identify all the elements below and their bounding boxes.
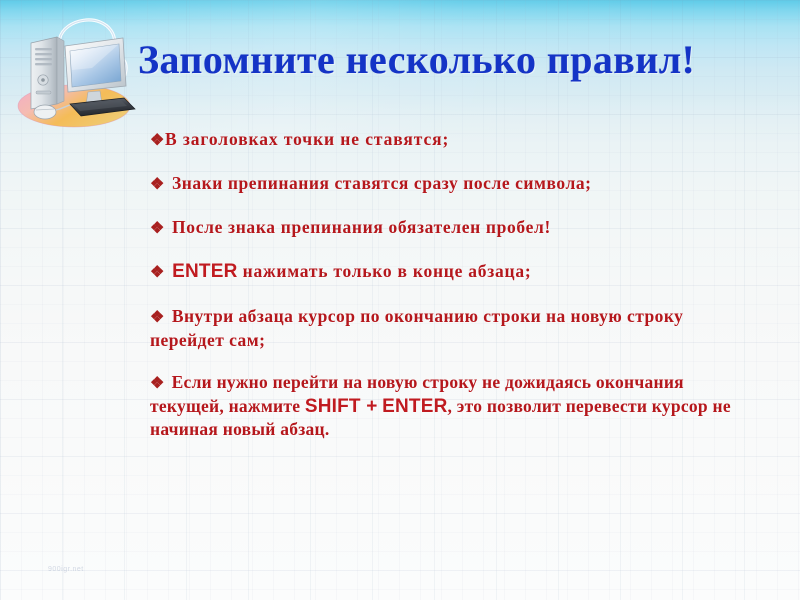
rule-text: Знаки препинания ставятся сразу после си… [172, 173, 592, 193]
rule-text: Внутри абзаца курсор по окончанию строки… [172, 306, 566, 326]
keycap-enter: ENTER [172, 261, 237, 282]
list-item: ❖ ENTER нажимать только в конце абзаца; [150, 260, 750, 284]
slide-title: Запомните несколько правил! [138, 36, 788, 84]
bullet-diamond-icon: ❖ [150, 129, 165, 152]
list-item: ❖ Знаки препинания ставятся сразу после … [150, 172, 750, 196]
bullet-diamond-icon: ❖ [150, 372, 167, 395]
keycap-shift: SHIFT + [305, 396, 378, 417]
watermark: 900igr.net [48, 566, 84, 573]
rule-text: В заголовках точки не ставятся; [165, 129, 449, 149]
bullet-diamond-icon: ❖ [150, 217, 167, 240]
rule-text: нажимать только в конце абзаца; [238, 261, 532, 281]
list-item: ❖ Внутри абзаца курсор по окончанию стро… [150, 305, 750, 352]
bullet-diamond-icon: ❖ [150, 306, 167, 329]
bullet-diamond-icon: ❖ [150, 261, 167, 284]
keycap-enter-2: ENTER [382, 396, 447, 417]
slide-canvas: Запомните несколько правил! ❖В заголовка… [0, 0, 800, 600]
list-item: ❖ После знака препинания обязателен проб… [150, 216, 750, 240]
rules-list: ❖В заголовках точки не ставятся; ❖ Знаки… [150, 128, 750, 440]
list-item: ❖ Если нужно перейти на новую строку не … [150, 371, 750, 440]
bullet-diamond-icon: ❖ [150, 173, 167, 196]
rule-text: После знака препинания обязателен пробел… [172, 217, 551, 237]
computer-clipart-icon [8, 8, 144, 134]
list-item: ❖В заголовках точки не ставятся; [150, 128, 750, 152]
